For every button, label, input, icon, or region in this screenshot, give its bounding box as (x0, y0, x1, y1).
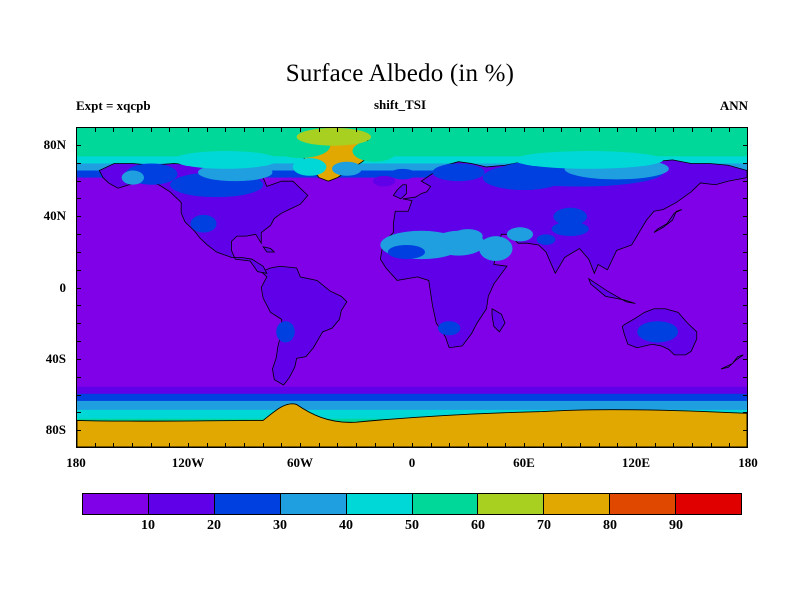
x-tick-top (300, 127, 301, 132)
y-axis-tick-label: 80S (0, 422, 66, 438)
x-tick-bottom (375, 443, 376, 448)
x-tick-top (580, 127, 581, 132)
y-tick-right (743, 341, 748, 342)
x-tick-bottom (188, 443, 189, 448)
x-tick-bottom (729, 443, 730, 448)
x-tick-top (449, 127, 450, 132)
x-tick-bottom (524, 443, 525, 448)
y-tick-left (76, 430, 81, 431)
x-tick-bottom (711, 443, 712, 448)
colorbar-band-60-70 (477, 494, 543, 514)
y-tick-right (743, 145, 748, 146)
x-tick-top (337, 127, 338, 132)
x-axis-tick-label: 0 (409, 455, 416, 471)
polar-cap-bright (297, 128, 371, 146)
colorbar-tick-label: 70 (537, 518, 551, 534)
y-tick-left (76, 341, 81, 342)
colorbar-band-70-80 (543, 494, 609, 514)
thar-desert (537, 234, 556, 245)
x-tick-top (468, 127, 469, 132)
x-tick-top (375, 127, 376, 132)
atacama-andes (276, 321, 295, 342)
colorbar-band-90-100 (675, 494, 741, 514)
map-plot-area (76, 127, 748, 448)
y-axis-tick-label: 40N (0, 208, 66, 224)
y-tick-left (76, 359, 81, 360)
x-tick-bottom (561, 443, 562, 448)
arctic-coast-canada (174, 151, 278, 169)
y-tick-left (76, 412, 81, 413)
x-tick-top (636, 127, 637, 132)
y-tick-left (76, 323, 81, 324)
x-tick-top (561, 127, 562, 132)
colorbar-tick-label: 50 (405, 518, 419, 534)
y-tick-left (76, 216, 81, 217)
y-tick-right (743, 181, 748, 182)
x-tick-top (487, 127, 488, 132)
tibetan-plateau (552, 222, 589, 236)
y-axis-tick-label: 0 (0, 280, 66, 296)
x-tick-bottom (468, 443, 469, 448)
x-tick-top (431, 127, 432, 132)
x-tick-bottom (113, 443, 114, 448)
x-tick-top (207, 127, 208, 132)
y-tick-right (743, 430, 748, 431)
figure-root: Surface Albedo (in %) shift_TSI Expt = x… (0, 0, 800, 600)
x-tick-top (95, 127, 96, 132)
x-tick-top (244, 127, 245, 132)
x-tick-top (393, 127, 394, 132)
y-axis-tick-label: 80N (0, 137, 66, 153)
x-tick-bottom (505, 443, 506, 448)
colorbar-tick-label: 60 (471, 518, 485, 534)
x-tick-bottom (300, 443, 301, 448)
colorbar-tick-label: 90 (669, 518, 683, 534)
x-tick-bottom (225, 443, 226, 448)
colorbar-tick-label: 20 (207, 518, 221, 534)
y-tick-right (743, 216, 748, 217)
y-tick-left (76, 163, 81, 164)
colorbar-band-20-30 (214, 494, 280, 514)
denmark-strait (332, 162, 362, 176)
x-tick-top (151, 127, 152, 132)
x-tick-bottom (356, 443, 357, 448)
x-tick-bottom (580, 443, 581, 448)
west-siberia-snow (483, 165, 565, 190)
x-tick-bottom (543, 443, 544, 448)
x-tick-bottom (655, 443, 656, 448)
scandinavia-snow (433, 163, 485, 181)
y-tick-right (743, 288, 748, 289)
y-tick-left (76, 270, 81, 271)
x-tick-top (673, 127, 674, 132)
y-tick-left (76, 181, 81, 182)
arabian-desert (479, 236, 513, 261)
iran-desert (507, 227, 533, 241)
x-tick-top (225, 127, 226, 132)
y-tick-right (743, 270, 748, 271)
colorbar-band-40-50 (346, 494, 412, 514)
x-tick-top (729, 127, 730, 132)
x-tick-bottom (244, 443, 245, 448)
y-tick-right (743, 163, 748, 164)
north-atlantic-transition (373, 176, 395, 187)
x-tick-bottom (319, 443, 320, 448)
x-tick-bottom (169, 443, 170, 448)
y-axis-tick-label: 40S (0, 351, 66, 367)
x-tick-top (711, 127, 712, 132)
colorbar-tick-label: 40 (339, 518, 353, 534)
y-tick-right (743, 377, 748, 378)
y-tick-left (76, 288, 81, 289)
colorbar-band-0-10 (83, 494, 148, 514)
y-tick-right (743, 234, 748, 235)
y-tick-right (743, 252, 748, 253)
norwegian-sea (390, 169, 416, 180)
x-tick-bottom (95, 443, 96, 448)
sahel-transition (388, 245, 425, 259)
australia-interior (637, 321, 678, 342)
x-tick-top (692, 127, 693, 132)
x-tick-bottom (431, 443, 432, 448)
x-tick-bottom (449, 443, 450, 448)
y-tick-left (76, 198, 81, 199)
x-tick-bottom (487, 443, 488, 448)
x-tick-top (543, 127, 544, 132)
x-tick-top (263, 127, 264, 132)
x-tick-bottom (599, 443, 600, 448)
y-tick-right (743, 305, 748, 306)
colorbar-tick-label: 30 (273, 518, 287, 534)
north-greenland-ice (352, 140, 397, 161)
southwest-us-desert (190, 215, 216, 233)
x-tick-bottom (393, 443, 394, 448)
x-tick-bottom (281, 443, 282, 448)
y-tick-right (743, 412, 748, 413)
x-axis-tick-label: 180 (66, 455, 86, 471)
colorbar-band-10-20 (148, 494, 214, 514)
x-tick-bottom (412, 443, 413, 448)
x-tick-top (655, 127, 656, 132)
colorbar-band-80-90 (609, 494, 675, 514)
colorbar-band-30-40 (280, 494, 346, 514)
egypt-desert (453, 229, 483, 243)
y-tick-left (76, 234, 81, 235)
x-tick-bottom (617, 443, 618, 448)
colorbar-tick-label: 80 (603, 518, 617, 534)
x-tick-top (524, 127, 525, 132)
x-tick-top (132, 127, 133, 132)
x-tick-bottom (207, 443, 208, 448)
x-tick-top (113, 127, 114, 132)
alaska-range (122, 171, 144, 185)
x-tick-top (617, 127, 618, 132)
season-label: ANN (0, 98, 748, 114)
y-tick-right (743, 323, 748, 324)
x-axis-tick-label: 60E (513, 455, 535, 471)
x-axis-tick-label: 60W (287, 455, 313, 471)
y-tick-left (76, 145, 81, 146)
arctic-coast-siberia (514, 151, 663, 169)
x-tick-bottom (263, 443, 264, 448)
x-tick-top (169, 127, 170, 132)
arctic-ocean-sea-ice (77, 128, 747, 156)
x-axis-tick-label: 120W (172, 455, 205, 471)
x-tick-top (188, 127, 189, 132)
albedo-map (77, 128, 747, 447)
y-tick-right (743, 198, 748, 199)
x-tick-bottom (673, 443, 674, 448)
y-tick-left (76, 305, 81, 306)
x-axis-tick-label: 180 (738, 455, 758, 471)
kalahari (438, 321, 460, 335)
colorbar-tick-label: 10 (141, 518, 155, 534)
colorbar (82, 493, 742, 515)
y-tick-right (743, 359, 748, 360)
x-tick-top (281, 127, 282, 132)
y-tick-left (76, 377, 81, 378)
x-tick-bottom (692, 443, 693, 448)
y-tick-right (743, 395, 748, 396)
x-tick-top (319, 127, 320, 132)
labrador-sea-ice (293, 158, 327, 176)
x-tick-bottom (636, 443, 637, 448)
x-tick-bottom (132, 443, 133, 448)
x-axis-tick-label: 120E (622, 455, 650, 471)
y-tick-left (76, 252, 81, 253)
x-tick-bottom (337, 443, 338, 448)
x-tick-top (505, 127, 506, 132)
y-tick-left (76, 395, 81, 396)
x-tick-bottom (151, 443, 152, 448)
x-tick-top (412, 127, 413, 132)
page-title: Surface Albedo (in %) (0, 60, 800, 88)
colorbar-band-50-60 (412, 494, 478, 514)
x-tick-top (599, 127, 600, 132)
x-tick-top (356, 127, 357, 132)
